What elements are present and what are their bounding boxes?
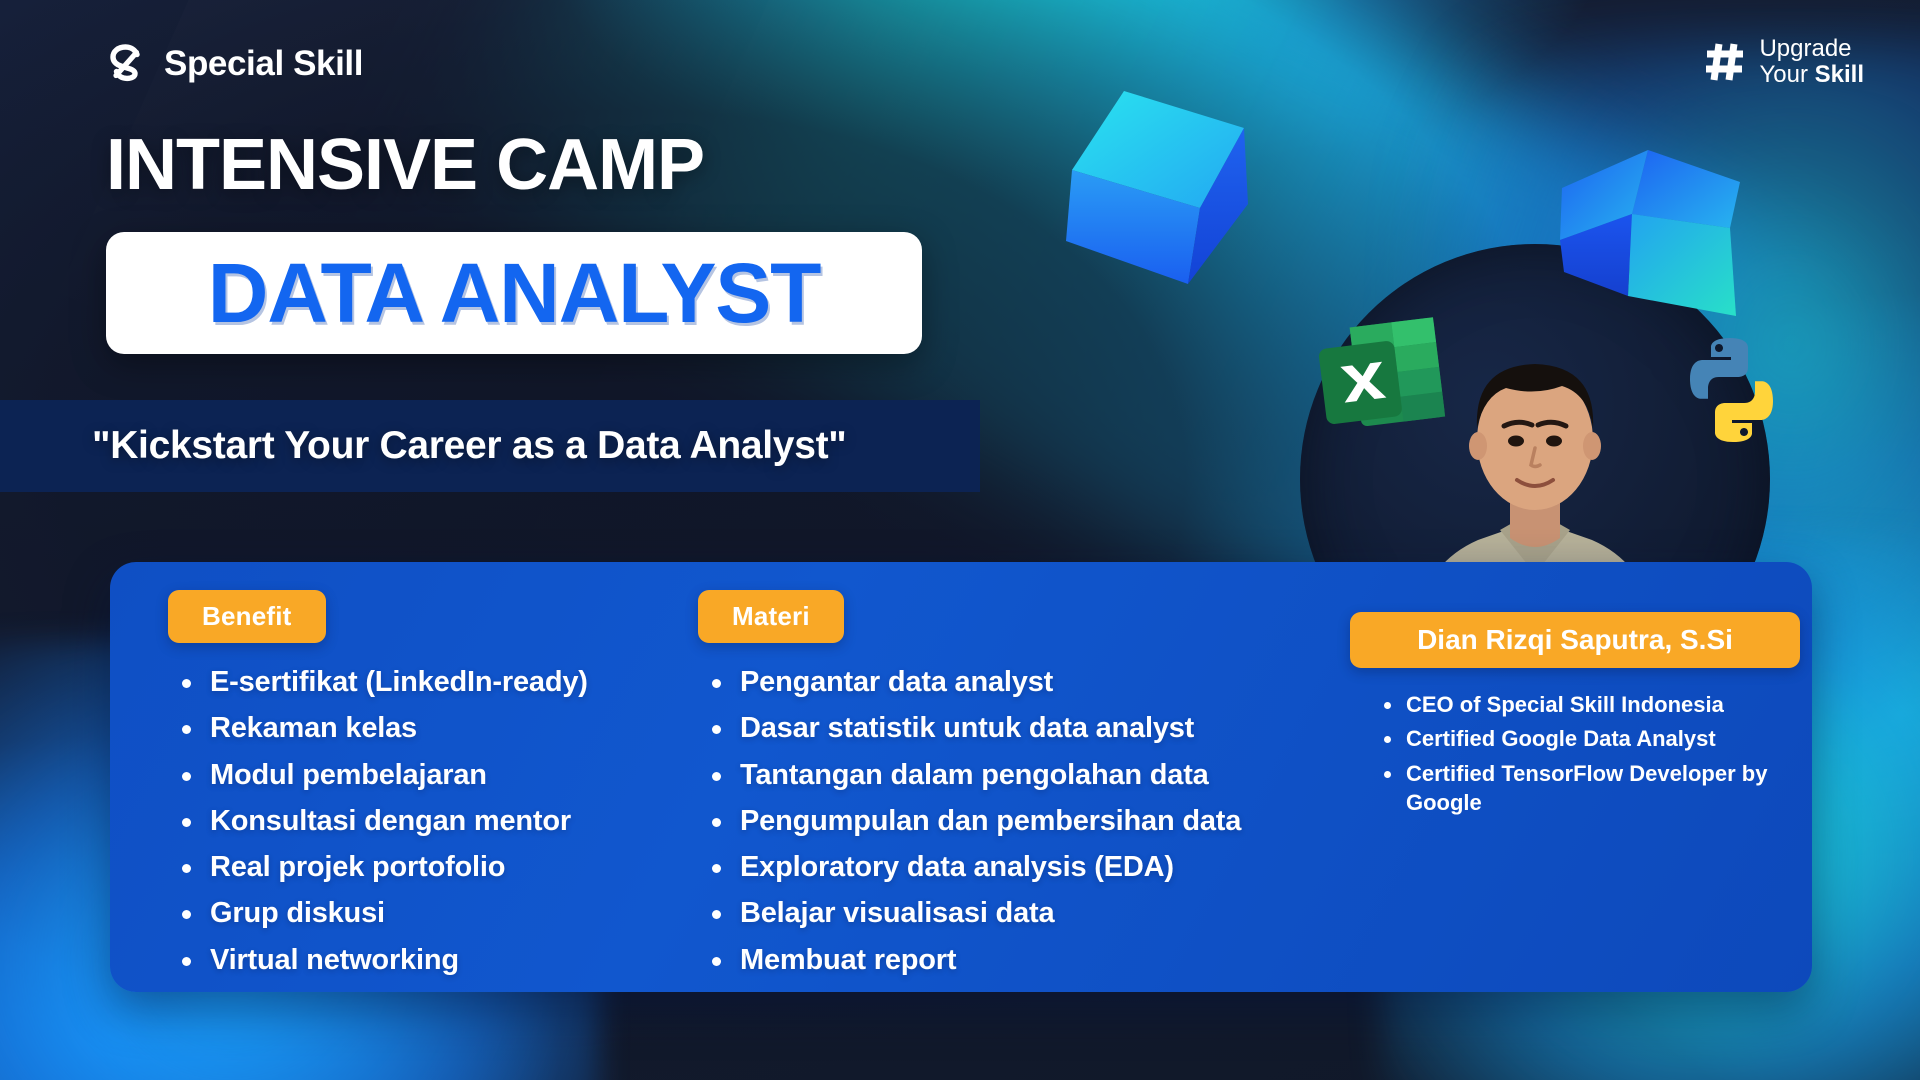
materi-list-item: Tantangan dalam pengolahan data: [704, 756, 1310, 794]
hash-icon: [1704, 41, 1746, 83]
materi-list-item: Membuat report: [704, 941, 1310, 979]
benefit-list-item: Modul pembelajaran: [174, 756, 660, 794]
benefit-list-item: Grup diskusi: [174, 894, 660, 932]
benefit-list-item: Virtual networking: [174, 941, 660, 979]
tagline-text: "Kickstart Your Career as a Data Analyst…: [92, 424, 846, 468]
benefit-list-item: Konsultasi dengan mentor: [174, 802, 660, 840]
benefit-list: E-sertifikat (LinkedIn-ready)Rekaman kel…: [174, 663, 660, 979]
cube-3d-icon: [1048, 84, 1278, 294]
page-headline: INTENSIVE CAMP: [106, 124, 704, 206]
credential-list-item: Certified TensorFlow Developer by Google: [1378, 759, 1800, 818]
upgrade-your-skill-badge: Upgrade Your Skill: [1704, 36, 1864, 88]
speaker-credentials-list: CEO of Special Skill IndonesiaCertified …: [1378, 690, 1800, 817]
materi-list: Pengantar data analystDasar statistik un…: [704, 663, 1310, 979]
speaker-block: Dian Rizqi Saputra, S.Si CEO of Special …: [1350, 562, 1800, 822]
tagline-bar: "Kickstart Your Career as a Data Analyst…: [0, 400, 980, 492]
upgrade-line-2-normal: Your: [1759, 61, 1814, 88]
materi-list-item: Exploratory data analysis (EDA): [704, 848, 1310, 886]
content-card: Benefit E-sertifikat (LinkedIn-ready)Rek…: [110, 562, 1812, 992]
benefit-list-item: E-sertifikat (LinkedIn-ready): [174, 663, 660, 701]
brand-logo: Special Skill: [104, 42, 363, 86]
speaker-name-badge: Dian Rizqi Saputra, S.Si: [1350, 612, 1800, 668]
benefit-badge: Benefit: [168, 590, 326, 643]
materi-badge: Materi: [698, 590, 844, 643]
materi-list-item: Pengantar data analyst: [704, 663, 1310, 701]
microsoft-excel-icon: [1309, 311, 1453, 446]
upgrade-line-1: Upgrade: [1759, 35, 1851, 62]
brand-name: Special Skill: [164, 44, 363, 84]
credential-list-item: CEO of Special Skill Indonesia: [1378, 690, 1800, 719]
materi-list-item: Pengumpulan dan pembersihan data: [704, 802, 1310, 840]
materi-column: Materi Pengantar data analystDasar stati…: [670, 562, 1310, 987]
page-title: DATA ANALYST: [208, 245, 820, 342]
course-title-pill: DATA ANALYST: [106, 232, 922, 354]
benefit-list-item: Real projek portofolio: [174, 848, 660, 886]
benefit-column: Benefit E-sertifikat (LinkedIn-ready)Rek…: [140, 562, 660, 987]
materi-list-item: Belajar visualisasi data: [704, 894, 1310, 932]
benefit-list-item: Rekaman kelas: [174, 709, 660, 747]
upgrade-badge-text: Upgrade Your Skill: [1759, 36, 1864, 88]
special-skill-s-logo-icon: [104, 42, 148, 86]
python-icon: [1672, 330, 1792, 450]
upgrade-line-2-bold: Skill: [1815, 61, 1864, 88]
materi-list-item: Dasar statistik untuk data analyst: [704, 709, 1310, 747]
credential-list-item: Certified Google Data Analyst: [1378, 724, 1800, 753]
